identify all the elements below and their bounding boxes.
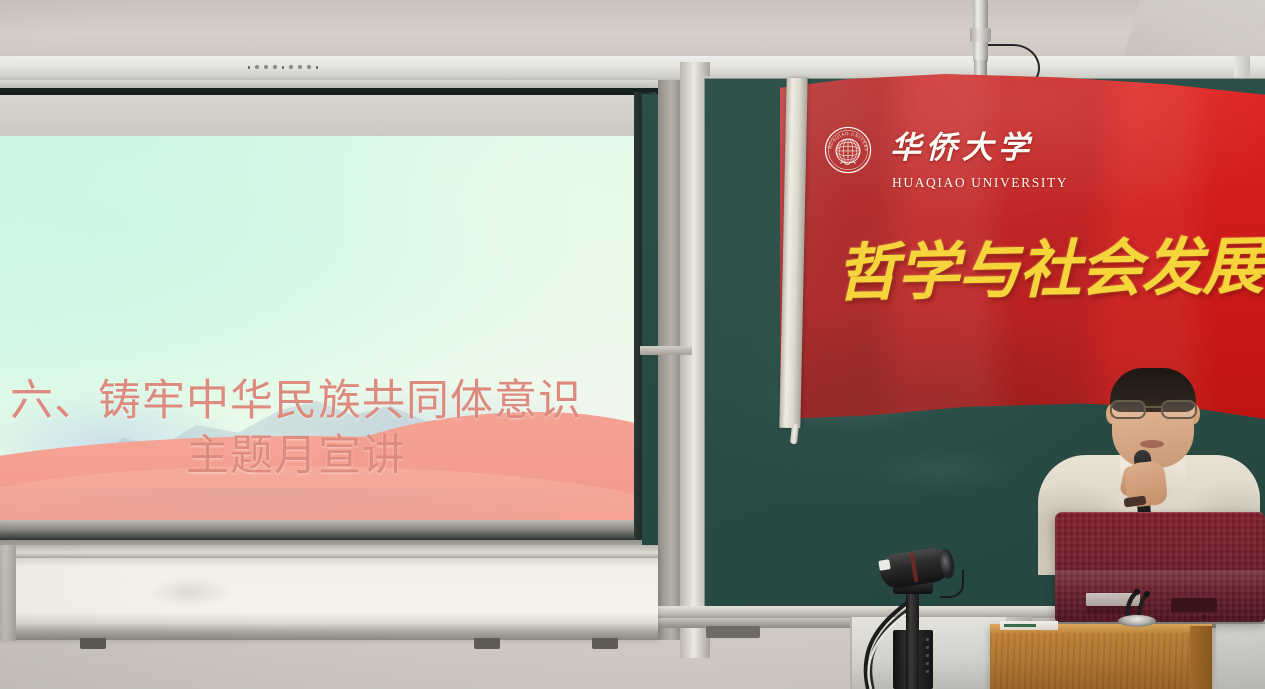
av-cabinet-right-panel	[1216, 624, 1265, 689]
banner-department-name: 哲学与社会发展学院	[836, 233, 1265, 305]
chalkboard-divider-left	[640, 346, 692, 355]
presentation-slide: 六、铸牢中华民族共同体意识 主题月宣讲	[0, 136, 634, 528]
monitor-led-dot	[1202, 615, 1206, 619]
classroom-photo-scene: 六、铸牢中华民族共同体意识 主题月宣讲	[0, 0, 1265, 689]
housing-vent-dots	[248, 64, 318, 70]
chalkboard-bracket	[706, 626, 760, 638]
microphone-base	[1118, 615, 1156, 627]
huaqiao-university-seal-icon: HUAQIAO UNIVERSITY	[824, 126, 872, 174]
eyeglasses-icon	[1108, 398, 1200, 420]
camera-indicator-light	[878, 559, 890, 571]
slide-title-line-2: 主题月宣讲	[0, 429, 634, 484]
ceiling-band	[0, 0, 1265, 62]
projection-screen-bottom-bar	[0, 520, 646, 540]
chalk-tray-foot-right	[592, 638, 618, 649]
presenter-mouth	[1140, 440, 1164, 448]
banner-university-name-cn: 华侨大学	[890, 122, 1034, 167]
banner-university-name-en: HUAQIAO UNIVERSITY	[892, 175, 1068, 191]
monitor-port-bay	[1171, 598, 1217, 612]
chalk-tray-foot-left	[80, 638, 106, 649]
desk-paper-sheet[interactable]	[1000, 621, 1058, 630]
slide-title: 六、铸牢中华民族共同体意识 主题月宣讲	[0, 374, 634, 484]
chalk-tray-foot-mid	[474, 638, 500, 649]
chalk-tray-scuff	[130, 570, 250, 614]
wooden-lectern-desk	[990, 624, 1212, 689]
projection-screen-top-margin	[0, 95, 648, 137]
desk-right-edge	[1190, 626, 1212, 689]
ceiling-mic-pole-collar	[970, 28, 991, 42]
slide-title-line-1: 六、铸牢中华民族共同体意识	[10, 376, 582, 426]
chalk-tray-upper-lip	[0, 545, 658, 558]
chalkboard-frame-inner-rail	[658, 80, 680, 640]
chalk-tray-left-end	[0, 545, 16, 641]
camera-stand-pole[interactable]	[906, 588, 919, 689]
